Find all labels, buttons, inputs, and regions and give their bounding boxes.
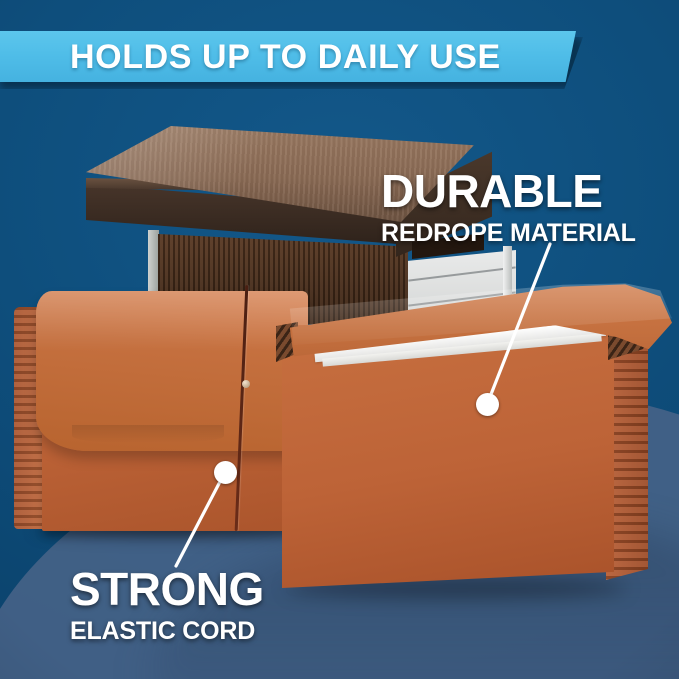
banner-headline: HOLDS UP TO DAILY USE	[70, 40, 501, 74]
cord-button	[242, 380, 250, 388]
product-infographic: HOLDS UP TO DAILY USE DURABLE REDROPE MA…	[0, 0, 679, 679]
callout-strong-subtitle: ELASTIC CORD	[70, 619, 264, 644]
callout-durable: DURABLE REDROPE MATERIAL	[381, 168, 636, 246]
callout-dot-durable	[476, 393, 499, 416]
callout-dot-strong	[214, 461, 237, 484]
headline-banner: HOLDS UP TO DAILY USE	[0, 31, 600, 83]
callout-durable-subtitle: REDROPE MATERIAL	[381, 221, 636, 246]
left-file-pocket	[14, 285, 306, 531]
banner-shape: HOLDS UP TO DAILY USE	[0, 31, 576, 82]
left-pocket-flap-highlight	[36, 291, 308, 351]
right-file-pocket	[276, 282, 672, 594]
callout-durable-title: DURABLE	[381, 168, 636, 214]
drawer-seam	[408, 267, 515, 282]
callout-strong-title: STRONG	[70, 566, 264, 612]
callout-strong: STRONG ELASTIC CORD	[70, 566, 264, 644]
left-pocket-flap-edge	[72, 425, 224, 443]
